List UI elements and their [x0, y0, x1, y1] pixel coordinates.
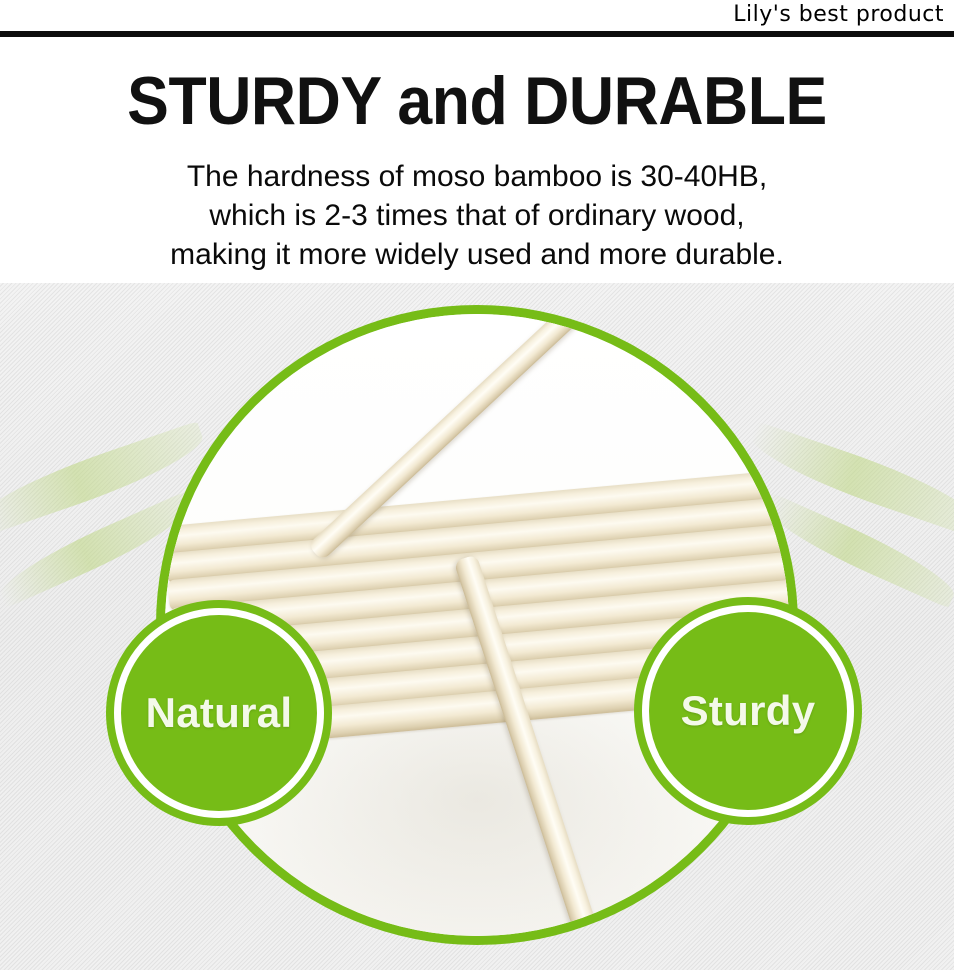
description-line-2: which is 2-3 times that of ordinary wood…: [0, 196, 954, 235]
page-title: STURDY and DURABLE: [38, 62, 916, 140]
title-block: STURDY and DURABLE The hardness of moso …: [0, 37, 954, 283]
description-line-3: making it more widely used and more dura…: [0, 235, 954, 274]
brand-strip: Lily's best product: [0, 0, 954, 30]
description-text: The hardness of moso bamboo is 30-40HB, …: [0, 157, 954, 274]
feature-badge-label: Sturdy: [681, 688, 816, 734]
showcase-panel: Natural Sturdy Durable Easy work: [0, 283, 954, 970]
feature-badge-sturdy[interactable]: Sturdy: [642, 605, 854, 817]
feature-badge-natural[interactable]: Natural: [114, 608, 324, 818]
product-feature-banner: Lily's best product STURDY and DURABLE T…: [0, 0, 954, 970]
bamboo-rod-tip: [553, 944, 577, 945]
brand-name: Lily's best product: [733, 4, 944, 26]
feature-badge-label: Natural: [146, 690, 293, 736]
description-line-1: The hardness of moso bamboo is 30-40HB,: [0, 157, 954, 196]
